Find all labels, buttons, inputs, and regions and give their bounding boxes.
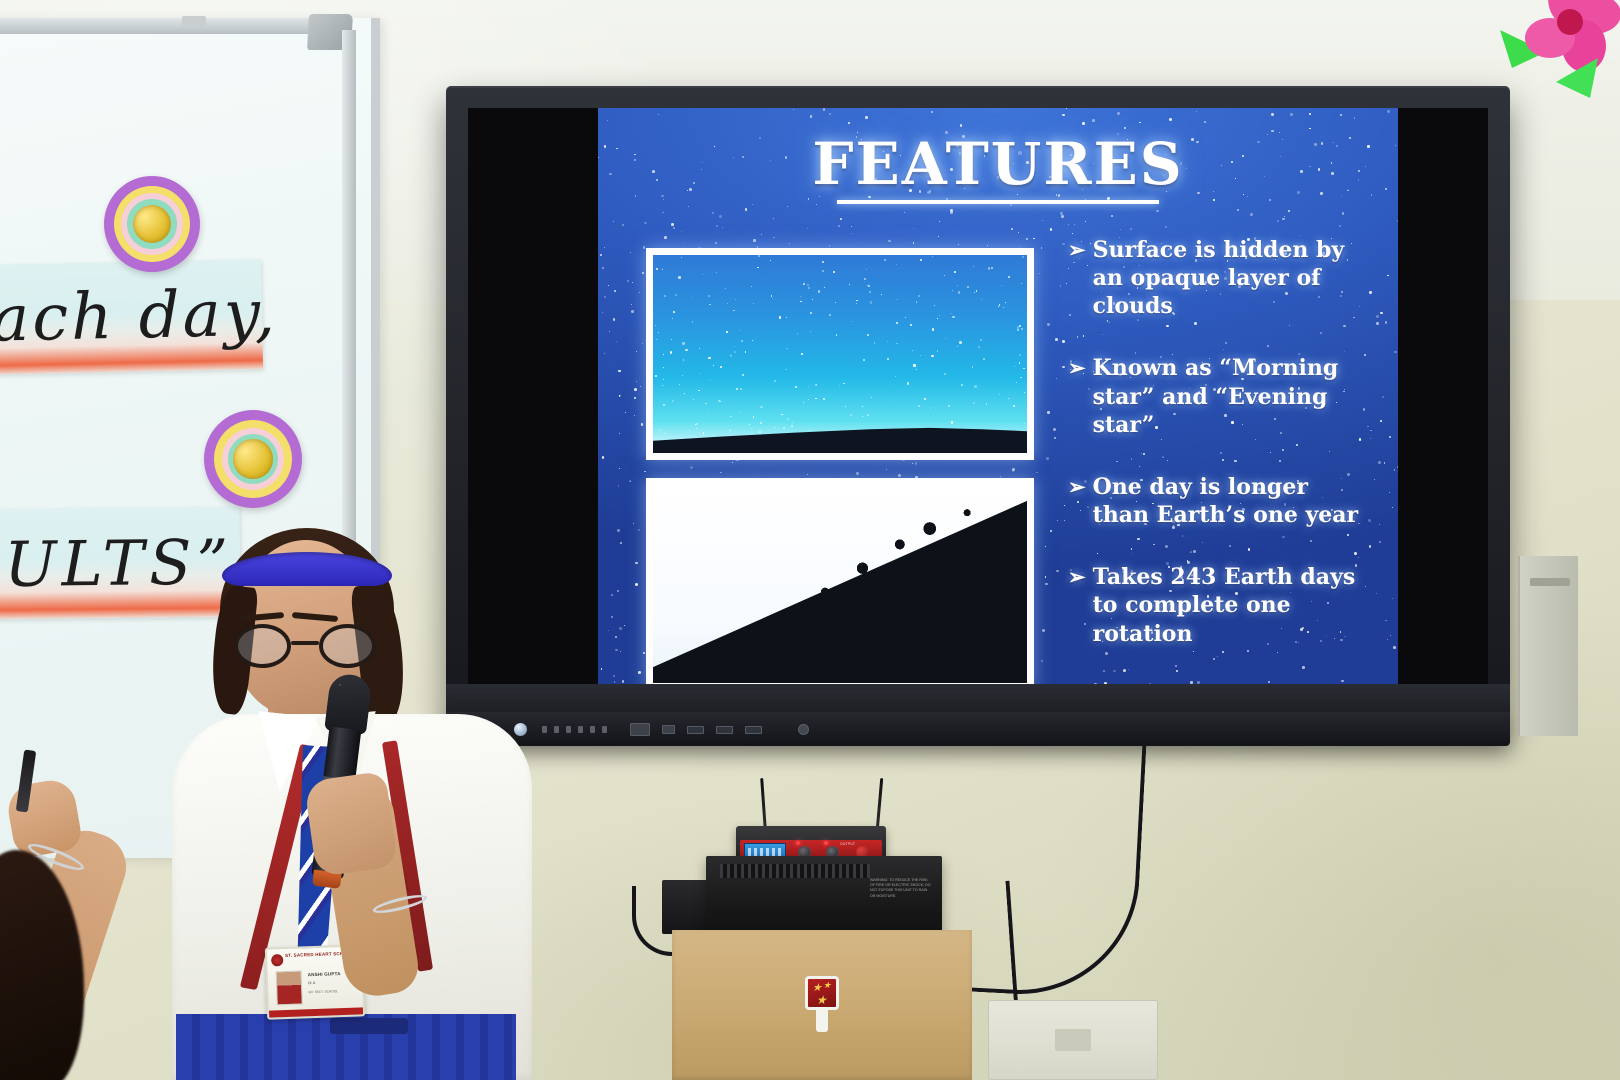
list-item: ➢ Known as “Morning star” and “Evening s… xyxy=(1068,354,1368,438)
amplifier-vents xyxy=(720,864,870,878)
slide-title-underline xyxy=(837,200,1159,204)
lens xyxy=(234,624,291,668)
bullet-text: Takes 243 Earth days to complete one rot… xyxy=(1093,563,1368,647)
amplifier-side-module xyxy=(662,880,710,934)
wall-sign-each-day-text: each day, xyxy=(0,259,263,375)
paper-flower-icon xyxy=(1494,0,1620,110)
whiteboard-clip xyxy=(182,16,206,27)
wall-sign-each-day: each day, xyxy=(0,259,263,375)
id-footer-text: SR. SECY. SCHOOL xyxy=(308,988,358,994)
paper-rosette-icon xyxy=(104,176,200,272)
channel-led-icon xyxy=(796,841,800,845)
display-screen[interactable]: FEATURES ➢ xyxy=(468,108,1488,684)
bullet-text: One day is longer than Earth’s one year xyxy=(1093,473,1368,529)
gold-stars-sticker: ★★★ xyxy=(805,976,839,1010)
channel-led-icon xyxy=(824,841,828,845)
lens xyxy=(319,624,376,668)
arrow-bullet-icon: ➢ xyxy=(1068,473,1086,500)
hillside-silhouette-photo xyxy=(646,478,1034,684)
io-ports[interactable] xyxy=(630,723,762,736)
bullet-text: Surface is hidden by an opaque layer of … xyxy=(1093,236,1368,320)
id-photo xyxy=(276,970,303,1005)
glasses-bridge xyxy=(291,641,319,645)
microphone-grille xyxy=(324,672,373,735)
list-item: ➢ Surface is hidden by an opaque layer o… xyxy=(1068,236,1368,320)
interactive-flat-panel[interactable]: FEATURES ➢ xyxy=(446,86,1510,722)
paper-rosette-icon xyxy=(204,410,302,508)
list-item: ➢ Takes 243 Earth days to complete one r… xyxy=(1068,563,1368,647)
id-student-name: ANSHI GUPTA xyxy=(308,971,341,977)
slide-bullet-list: ➢ Surface is hidden by an opaque layer o… xyxy=(1068,236,1368,682)
id-bottom-bar xyxy=(269,1007,363,1017)
slide-photo-column xyxy=(646,248,1034,684)
belt xyxy=(330,1018,408,1034)
whiteboard-frame-top xyxy=(0,18,322,34)
student-presenter: ST. SACRED HEART SCHOOL ANSHI GUPTA IX A… xyxy=(150,528,550,1080)
usb-port-icon[interactable] xyxy=(716,726,733,734)
bullet-text: Known as “Morning star” and “Evening sta… xyxy=(1093,354,1368,438)
slide-title: FEATURES xyxy=(598,130,1398,198)
right-hand xyxy=(304,771,399,877)
wall-socket-plate xyxy=(988,1000,1158,1080)
control-buttons[interactable] xyxy=(542,726,607,733)
id-student-class: IX A xyxy=(308,980,316,985)
presentation-slide: FEATURES ➢ xyxy=(598,108,1398,684)
eyeglasses xyxy=(234,624,380,668)
arrow-bullet-icon: ➢ xyxy=(1068,236,1086,263)
usb-port-icon[interactable] xyxy=(745,726,762,734)
arrow-bullet-icon: ➢ xyxy=(1068,563,1086,590)
hdmi-port-icon[interactable] xyxy=(630,723,650,736)
id-crest-icon xyxy=(271,954,283,966)
amplifier-warning-text: WARNING: TO REDUCE THE RISK OF FIRE OR E… xyxy=(870,878,932,899)
classroom-scene: each day, SULTS” FEATURES xyxy=(0,0,1620,1080)
arrow-bullet-icon: ➢ xyxy=(1068,354,1086,381)
output-label: OUTPUT xyxy=(840,842,855,846)
vga-port-icon[interactable] xyxy=(662,725,675,734)
list-item: ➢ One day is longer than Earth’s one yea… xyxy=(1068,473,1368,529)
twilight-sky-photo xyxy=(646,248,1034,460)
usb-port-icon[interactable] xyxy=(687,726,704,734)
sticker-stem xyxy=(816,1008,828,1032)
audio-jack-icon[interactable] xyxy=(798,724,809,735)
wall-mount-bracket xyxy=(1518,556,1578,736)
